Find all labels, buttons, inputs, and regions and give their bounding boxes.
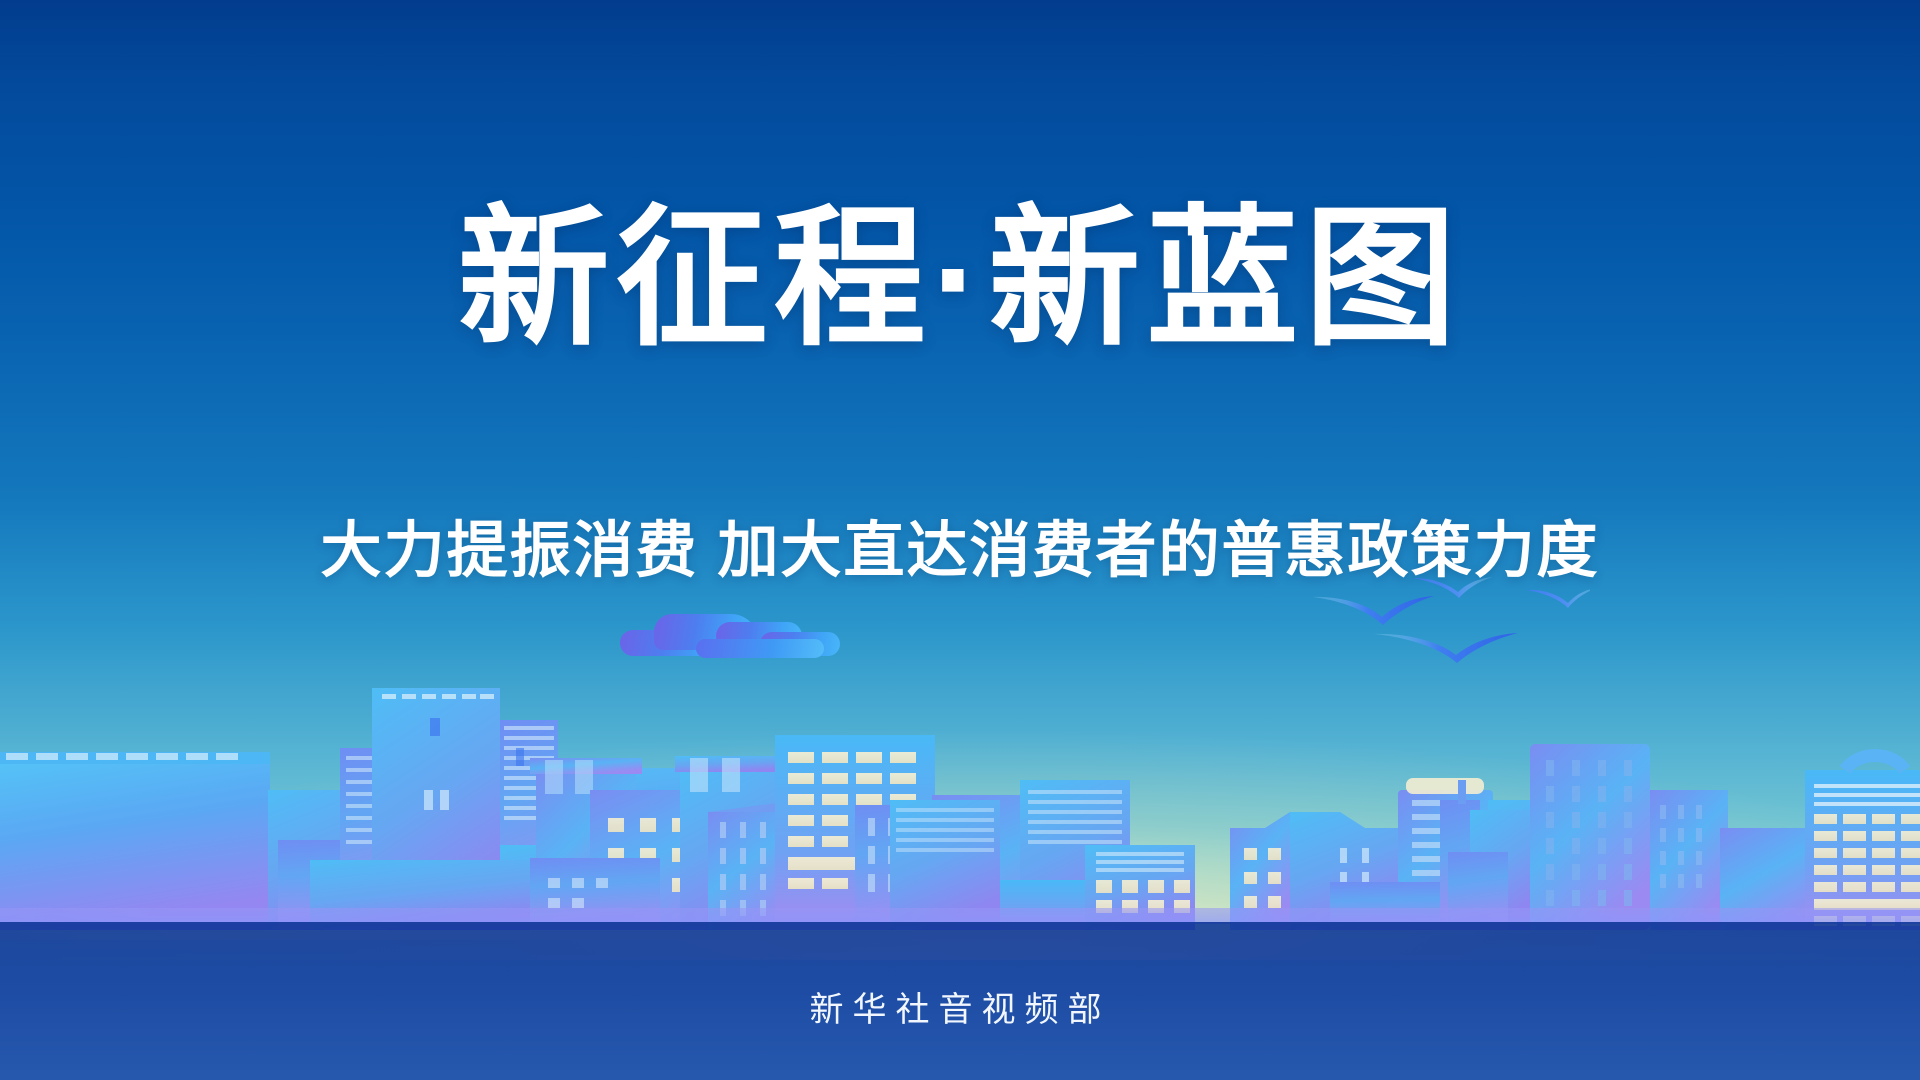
credit-line: 新华社音视频部 <box>0 982 1920 1031</box>
page-subtitle: 大力提振消费 加大直达消费者的普惠政策力度 <box>0 500 1920 589</box>
page-title: 新征程·新蓝图 <box>0 200 1920 360</box>
slide-canvas: 新征程·新蓝图 大力提振消费 加大直达消费者的普惠政策力度 新华社音视频部 <box>0 0 1920 1080</box>
